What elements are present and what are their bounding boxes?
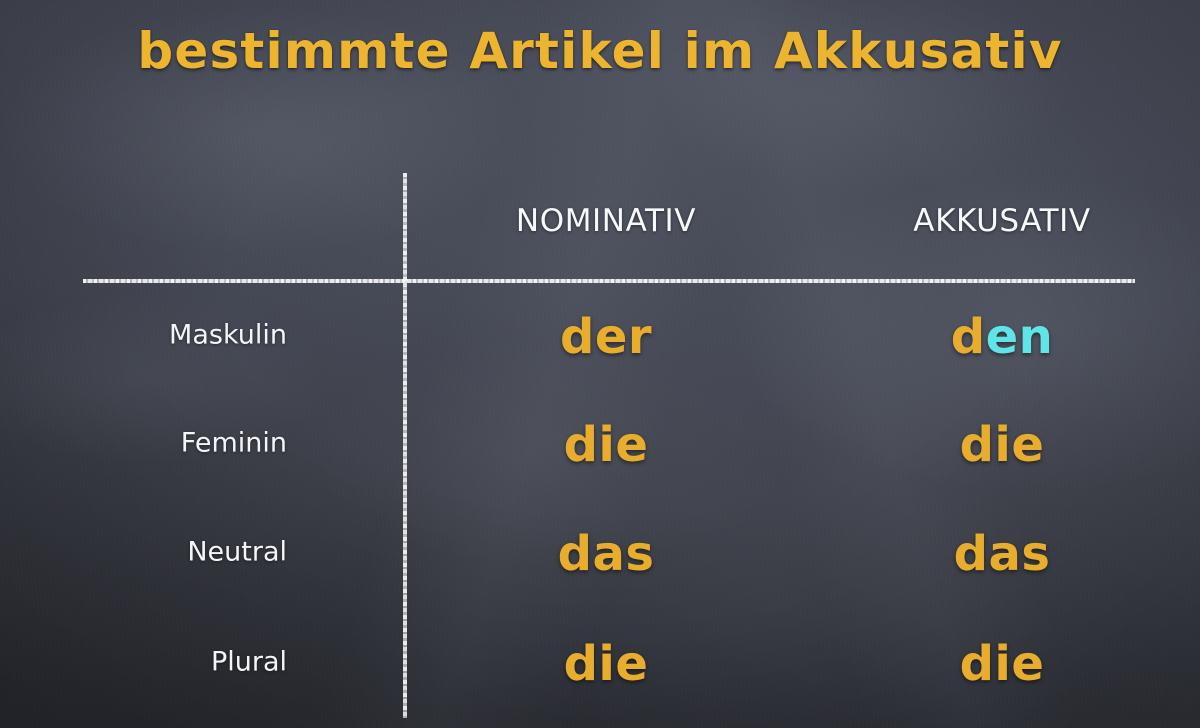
cell-plural-akkusativ: die [826, 636, 1178, 692]
column-header-akkusativ: AKKUSATIV [826, 203, 1178, 239]
cell-neutral-nominativ: das [430, 526, 782, 582]
article-ending-highlight: en [986, 309, 1054, 365]
cell-feminin-akkusativ: die [826, 417, 1178, 473]
column-header-nominativ: NOMINATIV [430, 203, 782, 239]
cell-feminin-nominativ: die [430, 417, 782, 473]
cell-plural-nominativ: die [430, 636, 782, 692]
row-label-neutral: Neutral [0, 537, 287, 568]
cell-maskulin-akkusativ: den [826, 309, 1178, 365]
article-stem: d [951, 309, 986, 365]
row-label-maskulin: Maskulin [0, 320, 287, 351]
cell-neutral-akkusativ: das [826, 526, 1178, 582]
row-label-plural: Plural [0, 647, 287, 678]
chalkboard-slide: bestimmte Artikel im Akkusativ NOMINATIV… [0, 0, 1200, 728]
row-label-feminin: Feminin [0, 428, 287, 459]
cell-maskulin-nominativ: der [430, 309, 782, 365]
declension-table: NOMINATIV AKKUSATIV Maskulin der den Fem… [0, 0, 1200, 728]
